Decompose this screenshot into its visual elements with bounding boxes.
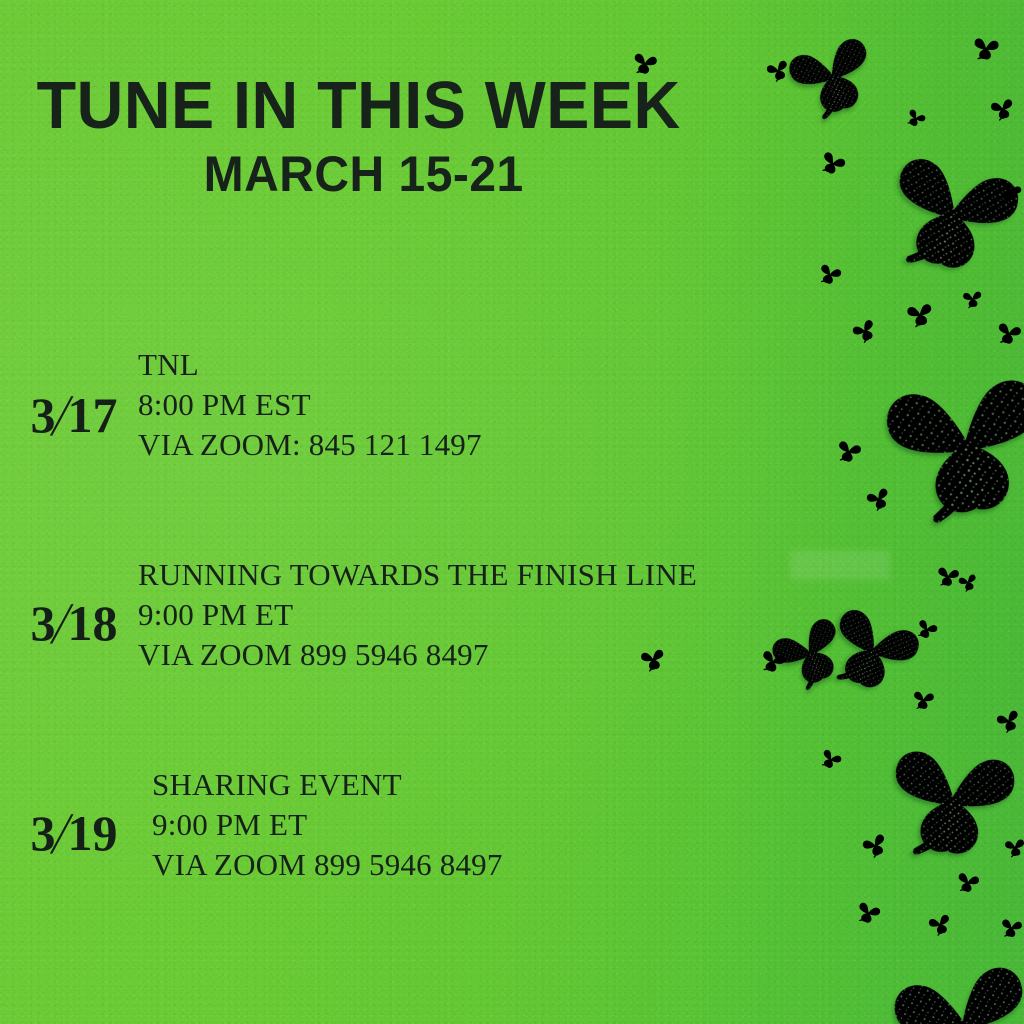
event-date-day: 19 <box>67 805 117 861</box>
shamrock-icon <box>867 341 1024 540</box>
shamrock-icon <box>911 687 937 713</box>
page-title: TUNE IN THIS WEEK <box>0 72 733 139</box>
page-subtitle: MARCH 15-21 <box>15 149 745 199</box>
event-date: 3/19 <box>0 808 130 858</box>
event-details: SHARING EVENT9:00 PM ETVIA ZOOM 899 5946… <box>152 765 503 884</box>
event-title-line: RUNNING TOWARDS THE FINISH LINE <box>138 555 697 595</box>
event-date-day: 17 <box>67 387 117 443</box>
poster-canvas: TUNE IN THIS WEEK MARCH 15-21 3/17TNL8:0… <box>0 0 1024 1024</box>
title-block: TUNE IN THIS WEEK MARCH 15-21 <box>0 72 760 199</box>
event-access-line: VIA ZOOM: 845 121 1497 <box>138 425 482 465</box>
event-details: TNL8:00 PM ESTVIA ZOOM: 845 121 1497 <box>138 345 482 464</box>
event-access-line: VIA ZOOM 899 5946 8497 <box>152 845 503 885</box>
event-date: 3/17 <box>0 390 130 440</box>
event-details: RUNNING TOWARDS THE FINISH LINE9:00 PM E… <box>138 555 697 674</box>
event-title-line: TNL <box>138 345 482 385</box>
event-row: 3/17TNL8:00 PM ESTVIA ZOOM: 845 121 1497 <box>0 300 860 510</box>
event-access-line: VIA ZOOM 899 5946 8497 <box>138 635 697 675</box>
event-title-line: SHARING EVENT <box>152 765 503 805</box>
event-row: 3/18RUNNING TOWARDS THE FINISH LINE9:00 … <box>0 510 860 720</box>
event-date: 3/18 <box>0 598 130 648</box>
shamrock-icon <box>904 298 936 330</box>
event-date-day: 18 <box>67 595 117 651</box>
event-time-line: 9:00 PM ET <box>138 595 697 635</box>
event-time-line: 9:00 PM ET <box>152 805 503 845</box>
event-schedule-list: 3/17TNL8:00 PM ESTVIA ZOOM: 845 121 1497… <box>0 300 860 930</box>
shamrock-icon <box>970 32 1002 64</box>
shamrock-icon <box>961 287 984 310</box>
shamrock-icon <box>998 914 1024 941</box>
shamrock-icon <box>877 721 1024 873</box>
shamrock-icon <box>1003 835 1024 860</box>
event-time-line: 8:00 PM EST <box>138 385 482 425</box>
event-row: 3/19SHARING EVENT9:00 PM ETVIA ZOOM 899 … <box>0 720 860 930</box>
